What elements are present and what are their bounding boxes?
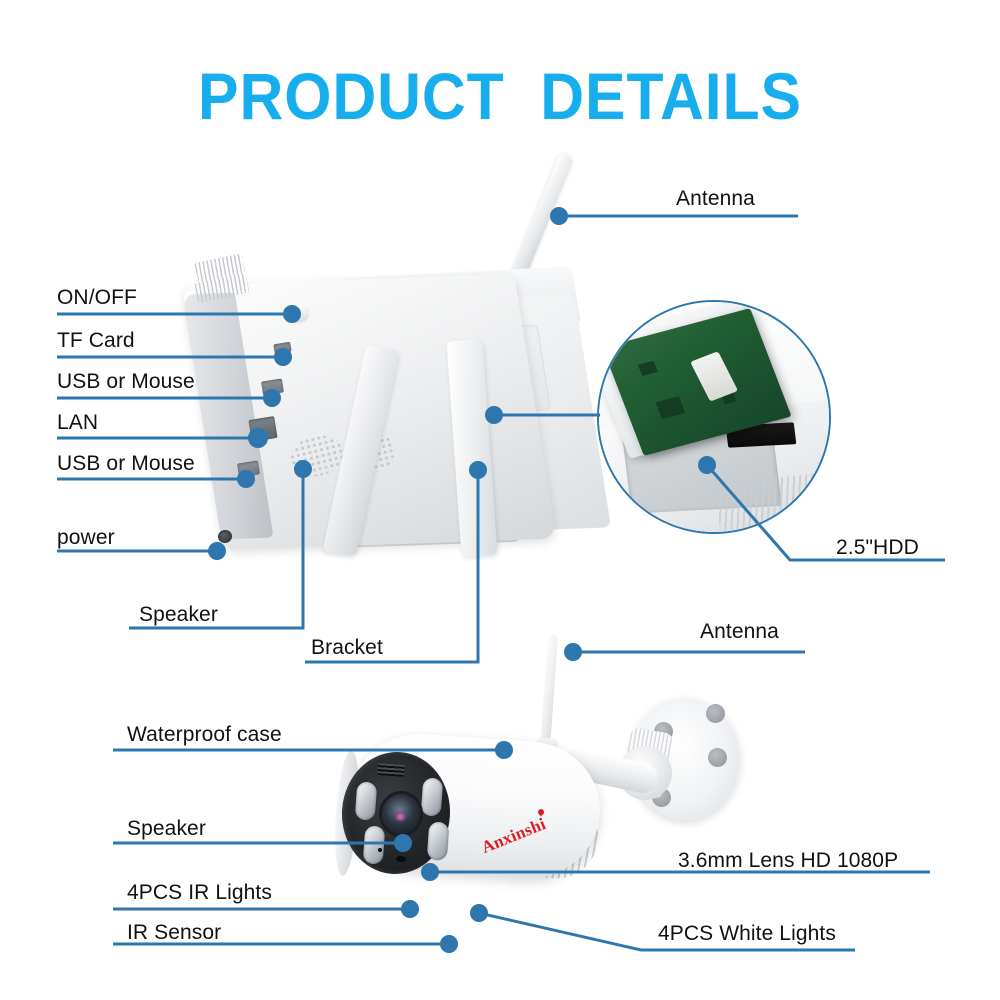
label-lan: LAN (57, 411, 98, 434)
label-speaker-nvr: Speaker (139, 603, 218, 626)
label-bracket: Bracket (311, 636, 383, 659)
label-waterproof-case: Waterproof case (127, 723, 282, 746)
label-usb-or-mouse-top: USB or Mouse (57, 370, 195, 393)
label-4pcs-ir-lights: 4PCS IR Lights (127, 881, 272, 904)
product-details-infographic: PRODUCT DETAILS HDDEnclosure (0, 0, 1000, 1000)
label-on-off: ON/OFF (57, 286, 137, 309)
label-hdd: 2.5"HDD (836, 536, 919, 559)
label-usb-or-mouse-bottom: USB or Mouse (57, 452, 195, 475)
label-speaker-camera: Speaker (127, 817, 206, 840)
label-4pcs-white-lights: 4PCS White Lights (658, 922, 836, 945)
label-tf-card: TF Card (57, 329, 135, 352)
label-ir-sensor: IR Sensor (127, 921, 221, 944)
label-antenna-nvr: Antenna (676, 187, 755, 210)
label-power: power (57, 526, 115, 549)
label-lens: 3.6mm Lens HD 1080P (678, 849, 898, 872)
label-antenna-camera: Antenna (700, 620, 779, 643)
